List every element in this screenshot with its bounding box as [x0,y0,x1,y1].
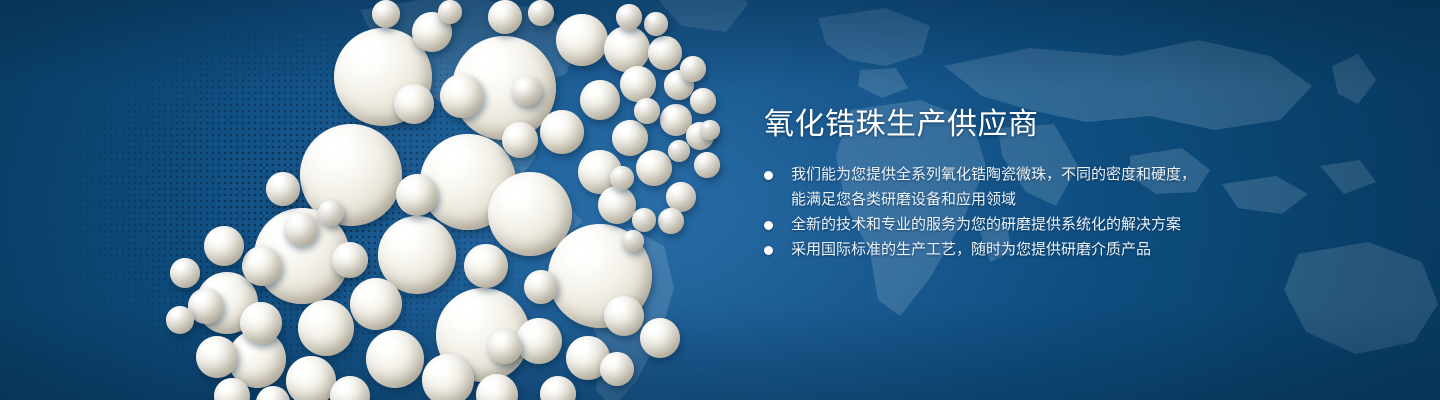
list-item: 全新的技术和专业的服务为您的研磨提供系统化的解决方案 [764,212,1364,237]
list-item: 我们能为您提供全系列氧化锆陶瓷微珠，不同的密度和硬度， 能满足您各类研磨设备和应… [764,162,1364,212]
bullet-dot-icon [764,221,773,230]
banner-copy: 氧化锆珠生产供应商 我们能为您提供全系列氧化锆陶瓷微珠，不同的密度和硬度， 能满… [764,108,1364,262]
page-title: 氧化锆珠生产供应商 [764,108,1364,142]
list-item: 采用国际标准的生产工艺，随时为您提供研磨介质产品 [764,237,1364,262]
list-item-label: 全新的技术和专业的服务为您的研磨提供系统化的解决方案 [791,212,1364,237]
list-item-label: 我们能为您提供全系列氧化锆陶瓷微珠，不同的密度和硬度， 能满足您各类研磨设备和应… [791,162,1364,212]
bullet-dot-icon [764,171,773,180]
hero-banner: 氧化锆珠生产供应商 我们能为您提供全系列氧化锆陶瓷微珠，不同的密度和硬度， 能满… [0,0,1440,400]
feature-list: 我们能为您提供全系列氧化锆陶瓷微珠，不同的密度和硬度， 能满足您各类研磨设备和应… [764,162,1364,262]
list-item-label: 采用国际标准的生产工艺，随时为您提供研磨介质产品 [791,237,1364,262]
zirconia-beads-image [0,0,760,400]
bullet-dot-icon [764,246,773,255]
